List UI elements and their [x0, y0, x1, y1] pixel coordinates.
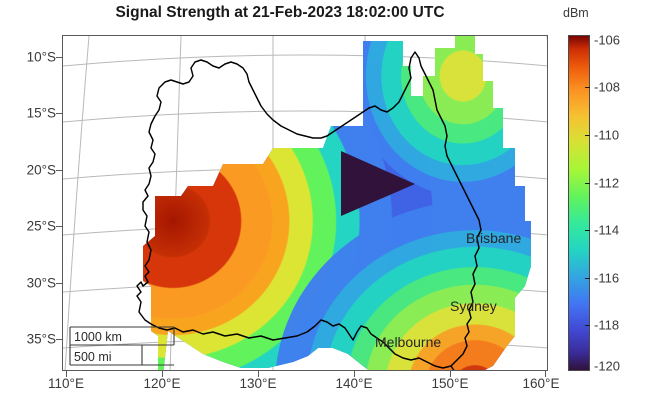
colorbar-tick-label: -118 [594, 318, 619, 333]
colorbar-tick [585, 135, 590, 136]
y-tick [56, 339, 62, 340]
y-tick-label: 25°S [27, 219, 56, 234]
colorbar-tick-label: -112 [594, 176, 619, 191]
y-tick-label: 35°S [27, 332, 56, 347]
colorbar-tick-label: -116 [594, 271, 619, 286]
x-tick-label: 140°E [336, 376, 373, 391]
figure-root: Signal Strength at 21-Feb-2023 18:02:00 … [0, 0, 646, 418]
y-tick-label: 15°S [27, 106, 56, 121]
y-tick [56, 57, 62, 58]
colorbar-tick [585, 87, 590, 88]
colorbar[interactable] [568, 35, 590, 371]
x-tick-label: 160°E [523, 376, 560, 391]
x-tick-label: 150°E [432, 376, 469, 391]
x-tick-label: 130°E [240, 376, 277, 391]
x-tick-label: 120°E [144, 376, 181, 391]
colorbar-tick [585, 183, 590, 184]
scale-bar-mi-label: 500 mi [74, 350, 112, 364]
map-axes[interactable] [62, 35, 548, 371]
chart-title: Signal Strength at 21-Feb-2023 18:02:00 … [0, 4, 560, 22]
y-tick [56, 283, 62, 284]
y-tick [56, 170, 62, 171]
colorbar-tick [585, 230, 590, 231]
colorbar-tick-label: -120 [594, 359, 620, 374]
colorbar-tick [585, 278, 590, 279]
y-tick [56, 226, 62, 227]
signal-field [63, 36, 548, 371]
colorbar-tick-label: -114 [594, 223, 619, 238]
y-tick [56, 113, 62, 114]
y-tick-label: 30°S [27, 276, 56, 291]
colorbar-tick-label: -110 [594, 128, 619, 143]
colorbar-title: dBm [563, 6, 589, 20]
map-canvas [63, 36, 548, 371]
colorbar-tick-label: -106 [594, 33, 620, 48]
colorbar-tick [585, 325, 590, 326]
x-tick-label: 110°E [48, 376, 84, 391]
colorbar-tick-label: -108 [594, 80, 620, 95]
y-tick-label: 10°S [27, 50, 56, 65]
scale-bar-km-label: 1000 km [74, 330, 122, 344]
y-tick-label: 20°S [27, 163, 56, 178]
